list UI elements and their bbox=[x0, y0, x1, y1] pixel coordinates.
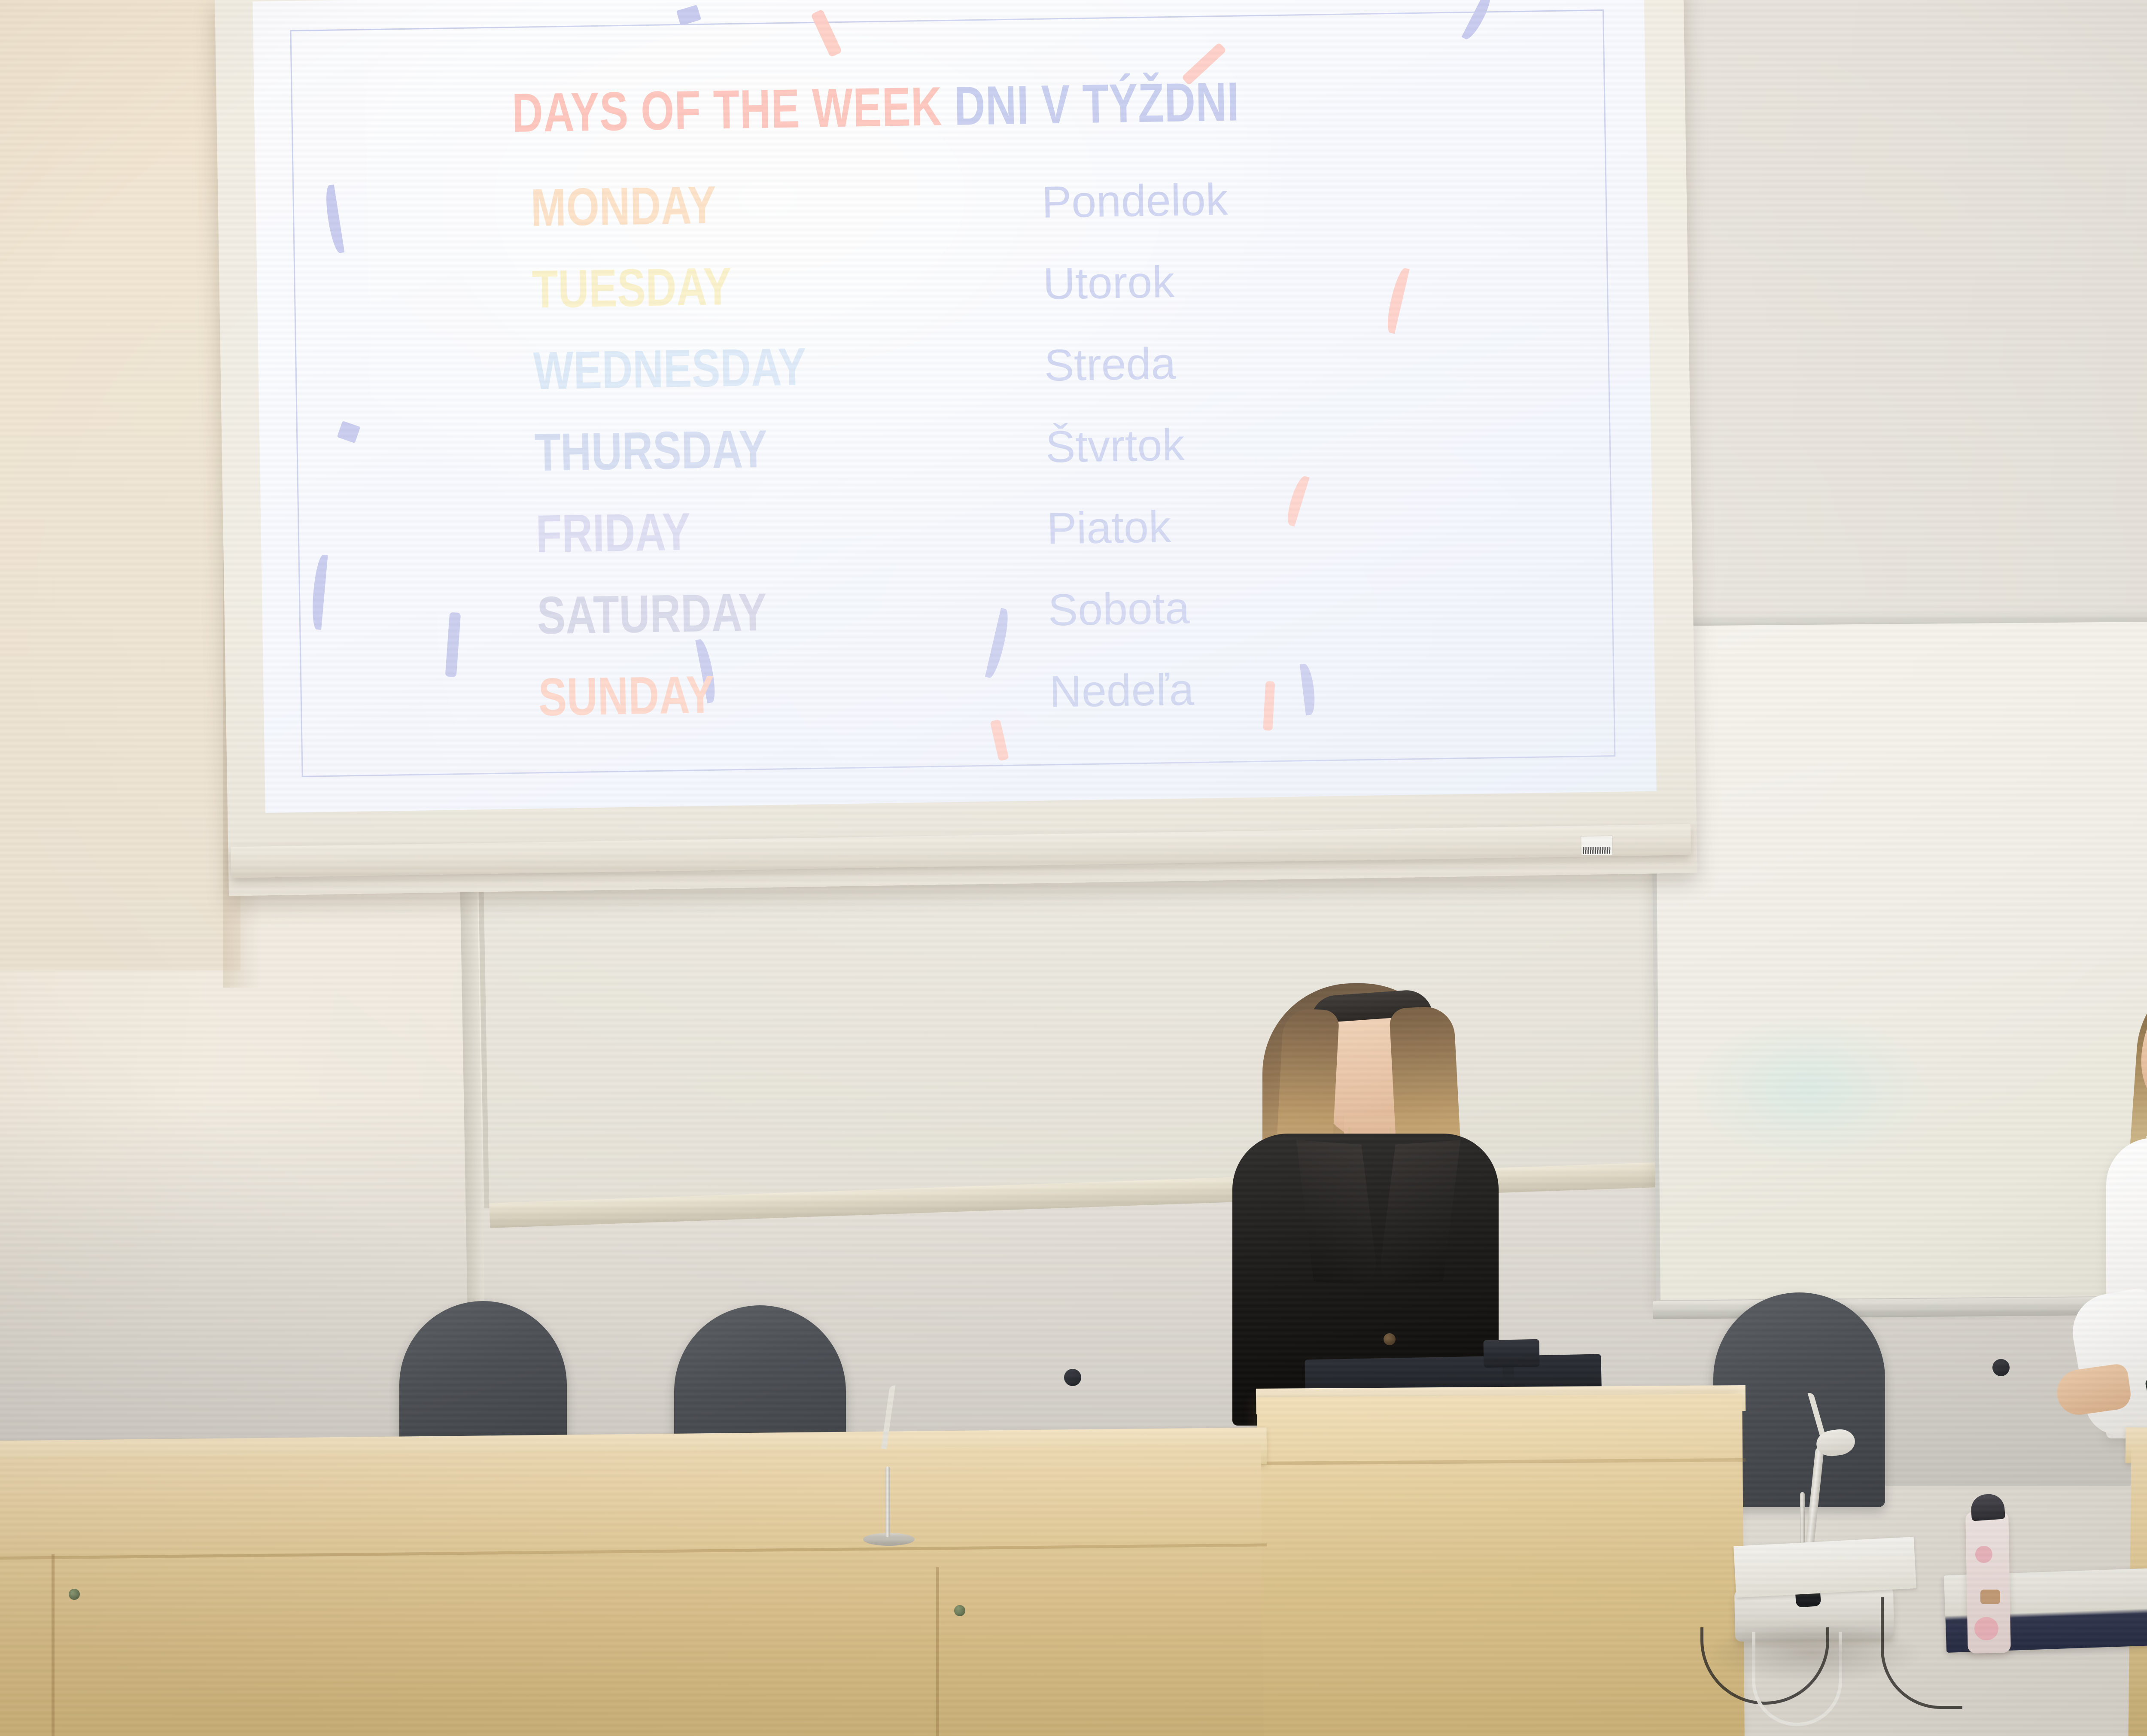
day-english: MONDAY bbox=[530, 175, 717, 239]
screen-label-tag bbox=[1581, 836, 1613, 856]
day-slovak: Nedeľa bbox=[1049, 664, 1195, 718]
barcode-icon bbox=[1583, 847, 1611, 854]
desk-drawer-edge bbox=[52, 1554, 55, 1736]
slide-title: DAYS OF THE WEEKDNI V TÝŽDNI bbox=[511, 70, 1240, 145]
day-slovak: Utorok bbox=[1043, 257, 1175, 310]
desk-left bbox=[0, 1445, 1264, 1736]
slide-title-slovak: DNI V TÝŽDNI bbox=[954, 71, 1240, 137]
projection-screen[interactable]: DAYS OF THE WEEKDNI V TÝŽDNI MONDAY Pond… bbox=[215, 0, 1697, 922]
webcam-icon bbox=[1483, 1339, 1539, 1368]
drawer-lock-icon[interactable] bbox=[954, 1605, 965, 1616]
day-slovak: Pondelok bbox=[1041, 174, 1228, 228]
whiteboard-glare bbox=[1690, 1013, 1929, 1164]
whiteboard[interactable] bbox=[1650, 611, 2147, 1304]
day-english: SUNDAY bbox=[538, 664, 715, 728]
microphone-stem bbox=[885, 1466, 890, 1537]
microphone-head-icon bbox=[1064, 1369, 1081, 1386]
cable-white bbox=[1752, 1632, 1842, 1726]
day-english: TUESDAY bbox=[532, 256, 732, 320]
drawer-lock-icon[interactable] bbox=[69, 1589, 80, 1600]
confetti-square-lavender bbox=[676, 5, 701, 26]
day-slovak: Sobota bbox=[1048, 583, 1190, 636]
day-slovak: Piatok bbox=[1046, 502, 1171, 555]
projected-slide: DAYS OF THE WEEKDNI V TÝŽDNI MONDAY Pond… bbox=[252, 0, 1656, 813]
blazer-button bbox=[1384, 1333, 1396, 1345]
microphone-head-icon bbox=[1992, 1359, 2010, 1376]
whiteboard-surface bbox=[1650, 611, 2147, 1304]
day-english: SATURDAY bbox=[537, 582, 767, 646]
slide-title-english: DAYS OF THE WEEK bbox=[511, 76, 943, 144]
desk-drawer-edge bbox=[936, 1567, 939, 1736]
bottle-decal-icon bbox=[1974, 1617, 1998, 1640]
day-slovak: Štvrtok bbox=[1045, 420, 1185, 473]
lectern bbox=[1257, 1394, 1745, 1736]
day-english: WEDNESDAY bbox=[533, 336, 807, 401]
day-english: THURSDAY bbox=[534, 419, 768, 483]
bottle-decal-icon bbox=[1980, 1590, 2000, 1604]
bottle-decal-icon bbox=[1975, 1546, 1992, 1563]
wall-upper-left bbox=[0, 0, 240, 970]
lecture-hall-photo: DAYS OF THE WEEKDNI V TÝŽDNI MONDAY Pond… bbox=[0, 0, 2147, 1736]
day-slovak: Streda bbox=[1044, 338, 1176, 392]
day-english: FRIDAY bbox=[535, 502, 691, 565]
paper-sheet bbox=[1733, 1537, 1916, 1598]
